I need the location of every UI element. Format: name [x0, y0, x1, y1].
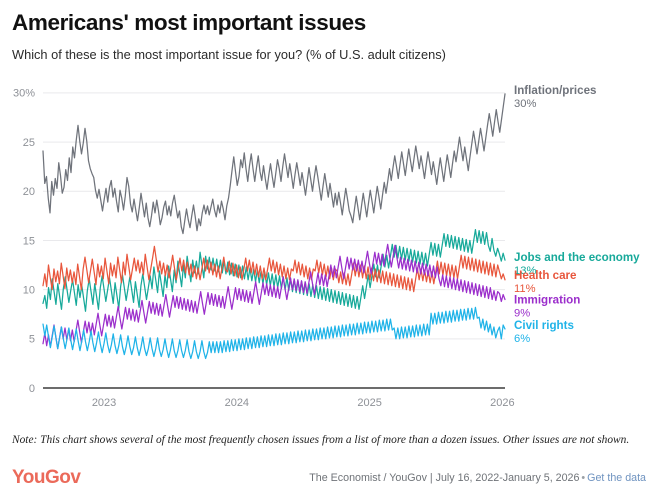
- series-line-inflation: [43, 94, 505, 234]
- y-axis-tick-label: 20: [23, 186, 35, 198]
- series-value-immigration: 9%: [514, 307, 530, 319]
- source-text: The Economist / YouGov | July 16, 2022-J…: [309, 472, 579, 484]
- chart-footer: YouGov The Economist / YouGov | July 16,…: [12, 468, 646, 494]
- y-axis-tick-label: 25: [23, 137, 35, 149]
- chart-subtitle: Which of these is the most important iss…: [12, 36, 646, 62]
- x-axis-tick-label: 2026: [490, 397, 514, 409]
- page-title: Americans' most important issues: [12, 0, 646, 36]
- y-axis-tick-label: 0: [29, 383, 35, 395]
- source-attribution: The Economist / YouGov | July 16, 2022-J…: [309, 472, 646, 484]
- series-value-inflation: 30%: [514, 98, 536, 110]
- get-the-data-link[interactable]: Get the data: [587, 472, 646, 484]
- series-line-civil_rights: [43, 307, 505, 358]
- x-axis-tick-label: 2025: [357, 397, 381, 409]
- yougov-logo: YouGov: [12, 468, 80, 488]
- chart-note: Note: This chart shows several of the mo…: [12, 433, 646, 447]
- series-value-civil_rights: 6%: [514, 333, 530, 345]
- y-axis-tick-label: 30%: [13, 88, 35, 100]
- line-chart-svg: 051015202530%2023202420252026Inflation/p…: [0, 72, 658, 420]
- series-label-jobs: Jobs and the economy: [514, 251, 640, 264]
- y-axis-tick-label: 15: [23, 235, 35, 247]
- series-label-health: Health care: [514, 269, 577, 282]
- bullet-separator: •: [579, 472, 587, 484]
- series-label-inflation: Inflation/prices: [514, 84, 596, 97]
- series-label-immigration: Immigration: [514, 293, 580, 306]
- series-label-civil_rights: Civil rights: [514, 319, 574, 332]
- plot-area: 051015202530%2023202420252026Inflation/p…: [0, 72, 658, 420]
- x-axis-tick-label: 2024: [225, 397, 249, 409]
- x-axis-tick-label: 2023: [92, 397, 116, 409]
- y-axis-tick-label: 5: [29, 334, 35, 346]
- chart-card: Americans' most important issues Which o…: [0, 0, 658, 501]
- y-axis-tick-label: 10: [23, 284, 35, 296]
